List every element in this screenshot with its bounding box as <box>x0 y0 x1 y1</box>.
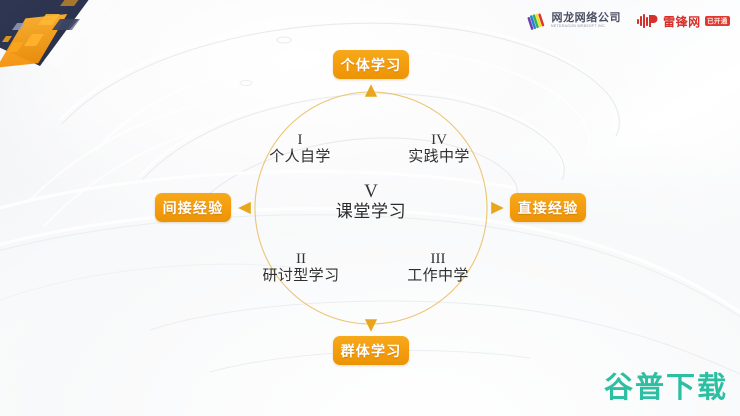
logo-leiphone-name: 雷锋网 <box>663 13 701 30</box>
logo-leiphone-badge: 已开通 <box>705 16 730 26</box>
quadrant-label-top-right: IV 实践中学 <box>394 132 484 166</box>
logo-netdragon: 网龙网络公司 NETDRAGON WEBSOFT INC. <box>527 12 621 31</box>
logo-bar: 网龙网络公司 NETDRAGON WEBSOFT INC. 雷锋网 已开通 <box>527 9 730 33</box>
quadrant-text: 研讨型学习 <box>252 268 350 285</box>
quadrant-text: 工作中学 <box>392 268 484 285</box>
logo-netdragon-subname: NETDRAGON WEBSOFT INC. <box>551 24 618 29</box>
axis-chip-right-label: 直接经验 <box>518 198 579 218</box>
axis-chip-top-label: 个体学习 <box>341 55 402 75</box>
quadrant-numeral: I <box>255 132 345 149</box>
quadrant-numeral: II <box>252 251 350 268</box>
quadrant-numeral: III <box>392 251 484 268</box>
diagram-center-label: V 课堂学习 <box>321 182 421 222</box>
center-text: 课堂学习 <box>321 203 421 222</box>
quadrant-text: 个人自学 <box>255 149 345 166</box>
download-watermark: 谷普下载 <box>604 364 728 406</box>
center-numeral: V <box>321 182 421 203</box>
logo-netdragon-name: 网龙网络公司 <box>551 13 621 24</box>
quadrant-label-bottom-left: II 研讨型学习 <box>252 251 350 285</box>
axis-chip-bottom-label: 群体学习 <box>341 341 402 361</box>
logo-leiphone: 雷锋网 已开通 <box>637 13 730 30</box>
axis-chip-left-label: 间接经验 <box>163 198 224 218</box>
axis-chip-bottom: 群体学习 <box>333 336 409 365</box>
quadrant-label-bottom-right: III 工作中学 <box>392 251 484 285</box>
axis-chip-left: 间接经验 <box>155 193 231 222</box>
slide-canvas: 个体学习 群体学习 间接经验 直接经验 I 个人自学 IV 实践中学 II 研讨… <box>0 0 740 416</box>
axis-chip-right: 直接经验 <box>510 193 586 222</box>
quadrant-numeral: IV <box>394 132 484 149</box>
axis-chip-top: 个体学习 <box>333 50 409 79</box>
leiphone-speaker-icon <box>637 13 659 29</box>
rainbow-swoosh-icon <box>527 12 546 31</box>
quadrant-label-top-left: I 个人自学 <box>255 132 345 166</box>
quadrant-text: 实践中学 <box>394 149 484 166</box>
